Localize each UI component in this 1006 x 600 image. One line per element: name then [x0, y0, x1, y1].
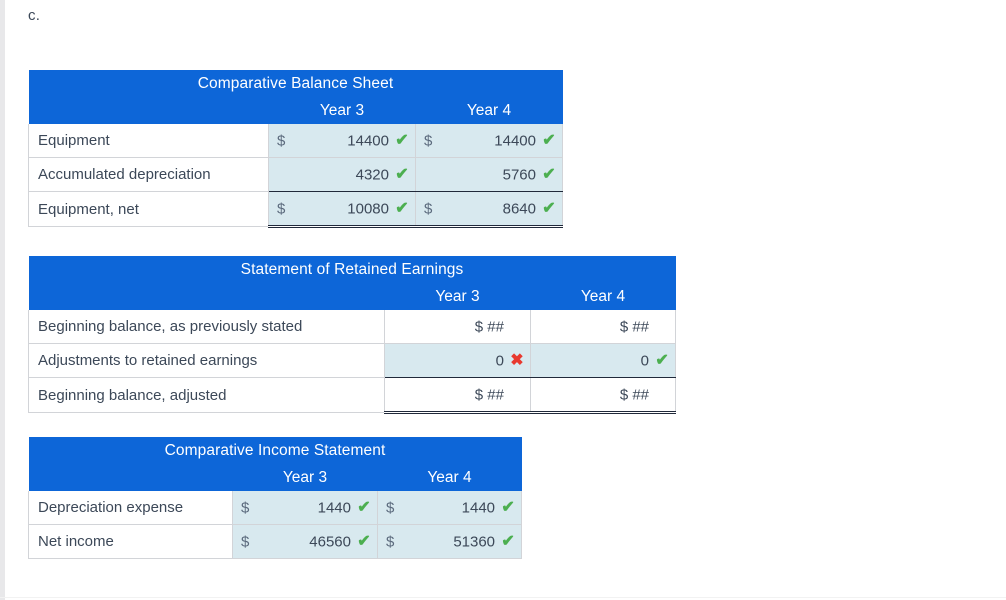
column-header-year3: Year 3 — [269, 97, 416, 124]
table-statement-of-retained-earnings: Statement of Retained Earnings Year 3 Ye… — [28, 256, 676, 414]
row-label: Adjustments to retained earnings — [29, 344, 385, 378]
cross-icon: ✖ — [509, 353, 525, 369]
cell-value: $ ## — [620, 318, 649, 335]
cell-value: 1440 — [318, 499, 351, 516]
table-title: Comparative Balance Sheet — [29, 70, 563, 97]
cell-value: 10080 — [347, 200, 389, 217]
cell-year3[interactable]: $ 1440 ✔ — [233, 491, 378, 525]
table-title: Statement of Retained Earnings — [29, 256, 676, 283]
currency-symbol: $ — [424, 132, 432, 149]
currency-symbol: $ — [386, 533, 394, 550]
cell-year3[interactable]: $ 10080 ✔ — [269, 192, 416, 227]
cell-year4[interactable]: $ ## — [531, 378, 676, 413]
column-header-year3: Year 3 — [233, 464, 378, 491]
table-column-header-row: Year 3 Year 4 — [29, 464, 522, 491]
cell-value: 0 — [496, 352, 504, 369]
cell-value: $ ## — [475, 386, 504, 403]
check-icon: ✔ — [394, 133, 410, 149]
check-icon: ✔ — [394, 167, 410, 183]
cell-value: 14400 — [494, 132, 536, 149]
column-header-year3: Year 3 — [385, 283, 531, 310]
check-icon: ✔ — [356, 534, 372, 550]
column-header-year4: Year 4 — [531, 283, 676, 310]
check-icon: ✔ — [541, 167, 557, 183]
cell-value: 0 — [641, 352, 649, 369]
currency-symbol: $ — [277, 200, 285, 217]
check-icon: ✔ — [500, 500, 516, 516]
table-row: Beginning balance, as previously stated … — [29, 310, 676, 344]
check-icon: ✔ — [654, 353, 670, 369]
cell-value: $ ## — [475, 318, 504, 335]
column-header-blank — [29, 464, 233, 491]
currency-symbol: $ — [277, 132, 285, 149]
column-header-year4: Year 4 — [378, 464, 522, 491]
row-label: Beginning balance, adjusted — [29, 378, 385, 413]
cell-value: 1440 — [462, 499, 495, 516]
cell-value: 46560 — [309, 533, 351, 550]
table-total-row: Beginning balance, adjusted $ ## $ ## — [29, 378, 676, 413]
cell-year3[interactable]: $ 14400 ✔ — [269, 124, 416, 158]
worksheet-page: c. Comparative Balance Sheet Year 3 Year… — [5, 0, 1006, 600]
currency-symbol: $ — [241, 533, 249, 550]
row-label: Beginning balance, as previously stated — [29, 310, 385, 344]
check-icon: ✔ — [541, 133, 557, 149]
cell-value: 5760 — [503, 166, 536, 183]
cell-value: 51360 — [453, 533, 495, 550]
table-column-header-row: Year 3 Year 4 — [29, 283, 676, 310]
row-label: Net income — [29, 525, 233, 559]
check-icon: ✔ — [541, 201, 557, 217]
row-label: Depreciation expense — [29, 491, 233, 525]
table-title: Comparative Income Statement — [29, 437, 522, 464]
cell-year4[interactable]: 5760 ✔ — [416, 158, 563, 192]
cell-value: $ ## — [620, 386, 649, 403]
table-row: Accumulated depreciation 4320 ✔ 5760 ✔ — [29, 158, 563, 192]
currency-symbol: $ — [386, 499, 394, 516]
table-row: Depreciation expense $ 1440 ✔ $ 1440 ✔ — [29, 491, 522, 525]
cell-year4[interactable]: $ 8640 ✔ — [416, 192, 563, 227]
cell-value: 4320 — [356, 166, 389, 183]
cell-year4[interactable]: $ ## — [531, 310, 676, 344]
cell-year3[interactable]: 0 ✖ — [385, 344, 531, 378]
cell-value: 14400 — [347, 132, 389, 149]
table-row: Equipment $ 14400 ✔ $ 14400 ✔ — [29, 124, 563, 158]
column-header-blank — [29, 97, 269, 124]
table-row: Net income $ 46560 ✔ $ 51360 ✔ — [29, 525, 522, 559]
table-title-row: Comparative Income Statement — [29, 437, 522, 464]
currency-symbol: $ — [424, 200, 432, 217]
row-label: Accumulated depreciation — [29, 158, 269, 192]
currency-symbol: $ — [241, 499, 249, 516]
table-total-row: Equipment, net $ 10080 ✔ $ 8640 ✔ — [29, 192, 563, 227]
cell-year4[interactable]: $ 1440 ✔ — [378, 491, 522, 525]
table-row: Adjustments to retained earnings 0 ✖ 0 ✔ — [29, 344, 676, 378]
cell-value: 8640 — [503, 200, 536, 217]
cell-year3[interactable]: $ 46560 ✔ — [233, 525, 378, 559]
table-title-row: Comparative Balance Sheet — [29, 70, 563, 97]
table-title-row: Statement of Retained Earnings — [29, 256, 676, 283]
cell-year4[interactable]: 0 ✔ — [531, 344, 676, 378]
cell-year4[interactable]: $ 14400 ✔ — [416, 124, 563, 158]
column-header-year4: Year 4 — [416, 97, 563, 124]
cell-year3[interactable]: $ ## — [385, 378, 531, 413]
row-label: Equipment — [29, 124, 269, 158]
cell-year3[interactable]: 4320 ✔ — [269, 158, 416, 192]
check-icon: ✔ — [394, 201, 410, 217]
table-comparative-balance-sheet: Comparative Balance Sheet Year 3 Year 4 … — [28, 70, 563, 228]
cell-year3[interactable]: $ ## — [385, 310, 531, 344]
table-column-header-row: Year 3 Year 4 — [29, 97, 563, 124]
table-comparative-income-statement: Comparative Income Statement Year 3 Year… — [28, 437, 522, 559]
row-label: Equipment, net — [29, 192, 269, 227]
check-icon: ✔ — [356, 500, 372, 516]
cell-year4[interactable]: $ 51360 ✔ — [378, 525, 522, 559]
part-label: c. — [28, 7, 40, 24]
column-header-blank — [29, 283, 385, 310]
check-icon: ✔ — [500, 534, 516, 550]
